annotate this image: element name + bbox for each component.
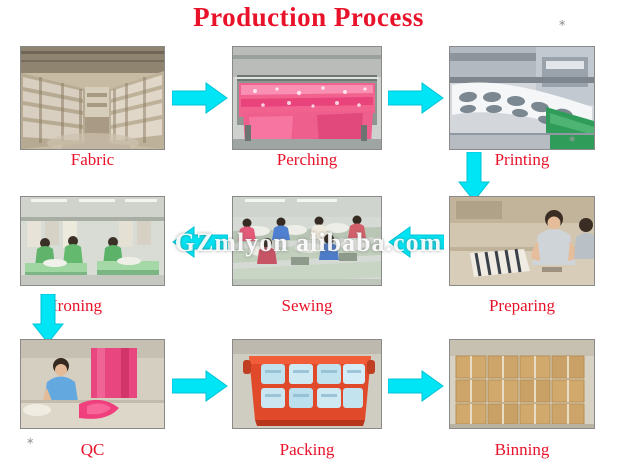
arrow-packing-to-binning (388, 370, 444, 400)
step-photo-sewing (232, 196, 382, 286)
arrow-fabric-to-perching (172, 82, 228, 112)
page-mark-bottom-left: ∗ (26, 436, 34, 447)
step-photo-perching (232, 46, 382, 150)
step-photo-packing (232, 339, 382, 429)
step-caption-ironing: Ironing (52, 296, 148, 316)
step-photo-binning (449, 339, 595, 429)
arrow-printing-to-preparing (458, 152, 490, 202)
step-caption-fabric: Fabric (20, 150, 165, 170)
production-process-diagram: Production Process (0, 0, 617, 474)
arrow-perching-to-printing (388, 82, 444, 112)
page-title: Production Process (0, 2, 617, 33)
step-caption-binning: Binning (449, 440, 595, 460)
step-caption-packing: Packing (232, 440, 382, 460)
arrow-qc-to-packing (172, 370, 228, 400)
step-photo-qc (20, 339, 165, 429)
step-caption-sewing: Sewing (232, 296, 382, 316)
step-caption-qc: QC (20, 440, 165, 460)
arrow-preparing-to-sewing (388, 226, 444, 256)
page-mark-top-right: ∗ (558, 18, 566, 29)
arrow-ironing-to-qc (32, 294, 64, 344)
step-photo-preparing (449, 196, 595, 286)
step-photo-ironing (20, 196, 165, 286)
step-caption-preparing: Preparing (449, 296, 595, 316)
page-mark-mid-right: ∗ (568, 134, 576, 145)
step-photo-fabric (20, 46, 165, 150)
step-caption-perching: Perching (232, 150, 382, 170)
arrow-sewing-to-ironing (170, 226, 228, 256)
